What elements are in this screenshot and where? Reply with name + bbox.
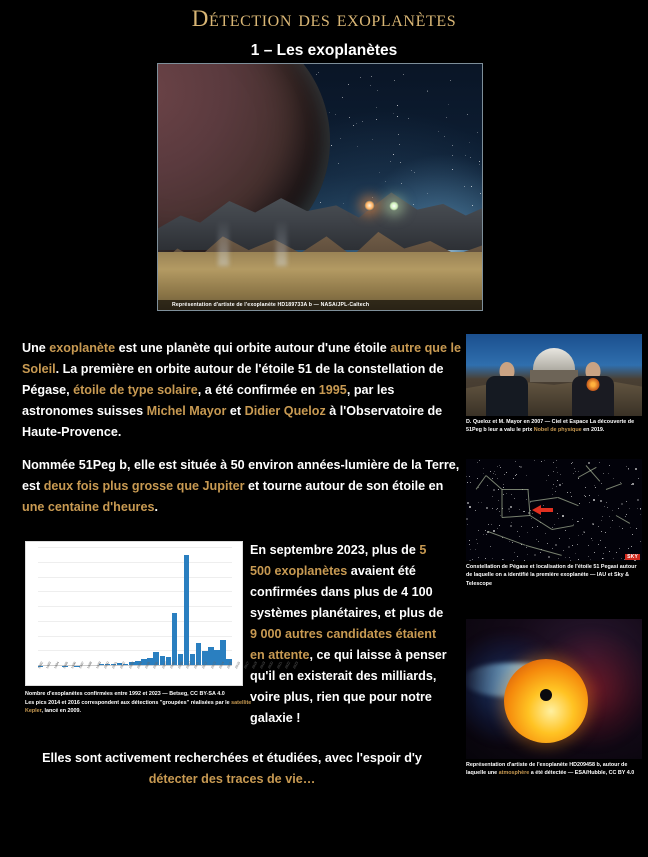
star-dot	[553, 462, 554, 463]
star-dot	[464, 186, 465, 187]
text-run: Une	[22, 341, 49, 355]
star-dot	[601, 483, 602, 484]
star-dot	[622, 528, 623, 529]
star-dot	[540, 552, 541, 553]
star-dot	[342, 97, 343, 98]
star-dot	[582, 534, 583, 535]
star-dot	[588, 462, 590, 464]
star-dot	[610, 527, 611, 528]
star-dot	[624, 559, 625, 560]
star-dot	[483, 534, 484, 535]
star-dot	[603, 553, 604, 554]
star-dot	[575, 553, 576, 554]
star-dot	[613, 478, 614, 479]
star-dot	[452, 145, 453, 146]
star-dot	[609, 465, 610, 466]
star-dot	[486, 507, 488, 509]
star-dot	[559, 538, 560, 539]
constellation-line	[558, 497, 578, 506]
star-dot	[555, 544, 557, 546]
star-dot	[519, 509, 520, 510]
star-dot	[538, 541, 539, 542]
star-dot	[444, 136, 445, 137]
star-dot	[544, 460, 545, 461]
star-dot	[585, 496, 586, 497]
caption-post: en 2019.	[582, 427, 605, 433]
page-subtitle: 1 – Les exoplanètes	[0, 42, 648, 60]
star-dot	[637, 499, 639, 501]
constellation-line	[616, 515, 630, 524]
exoplanet-discoveries-bar-chart: 1992199319941995199619971998199920002001…	[25, 541, 243, 686]
star-dot	[575, 471, 576, 472]
star-dot	[534, 460, 535, 461]
text-highlight: 1995	[319, 383, 347, 397]
star-dot	[531, 518, 532, 519]
star-dot	[588, 545, 589, 546]
star-dot	[478, 557, 479, 558]
star-dot	[362, 121, 363, 122]
star-dot	[628, 548, 629, 549]
star-dot	[469, 476, 470, 477]
star-dot	[467, 502, 469, 504]
hero-caption: Représentation d'artiste de l'exoplanète…	[158, 300, 482, 310]
star-dot	[479, 161, 480, 162]
star-dot	[487, 485, 488, 486]
star-dot	[578, 559, 579, 560]
star-dot	[595, 487, 596, 488]
star-dot	[600, 540, 601, 541]
chart-bar	[184, 555, 189, 666]
text-run: .	[154, 500, 158, 514]
star-dot	[356, 123, 357, 124]
star-dot	[470, 157, 471, 158]
star-dot	[632, 534, 633, 535]
star-dot	[626, 501, 627, 502]
star-dot	[562, 515, 564, 517]
star-dot	[497, 528, 498, 529]
star-dot	[548, 475, 549, 476]
star-dot	[552, 488, 553, 489]
star-dot	[477, 478, 478, 479]
star-dot	[582, 518, 583, 519]
star-dot	[452, 155, 453, 156]
star-dot	[413, 204, 414, 205]
star-dot	[318, 72, 319, 73]
star-dot	[471, 186, 472, 187]
star-dot	[562, 483, 563, 484]
star-dot	[569, 538, 570, 539]
star-dot	[479, 460, 480, 461]
star-dot	[475, 510, 476, 511]
star-dot	[511, 494, 512, 495]
star-dot	[589, 502, 590, 503]
star-dot	[399, 144, 400, 145]
star-dot	[604, 506, 605, 507]
star-dot	[506, 493, 507, 494]
star-dot	[526, 475, 527, 476]
star-dot	[483, 468, 484, 469]
star-dot	[371, 76, 372, 77]
star-dot	[476, 539, 477, 540]
star-dot	[496, 509, 497, 510]
star-dot	[397, 105, 398, 106]
constellation-line	[488, 531, 526, 546]
star-dot	[514, 552, 515, 553]
star-dot	[540, 517, 541, 518]
star-dot	[376, 119, 377, 120]
star-dot	[500, 467, 501, 468]
star-dot	[534, 554, 536, 556]
star-dot	[477, 543, 478, 544]
star-dot	[485, 558, 486, 559]
star-dot	[510, 525, 512, 527]
star-dot	[545, 533, 546, 534]
star-dot	[573, 473, 574, 474]
steam-plume-icon	[276, 220, 287, 266]
chart-caption-line2-post: , lancé en 2009.	[41, 708, 81, 714]
star-dot	[556, 467, 557, 468]
star-dot	[475, 549, 476, 550]
star-dot	[612, 510, 613, 511]
star-dot	[376, 107, 377, 108]
star-dot	[553, 471, 554, 472]
star-dot	[452, 169, 453, 170]
star-dot	[565, 557, 566, 558]
star-dot	[385, 181, 386, 182]
star-dot	[492, 558, 493, 559]
star-dot	[353, 125, 354, 126]
star-dot	[467, 524, 468, 525]
star-dot	[514, 498, 515, 499]
text-run: En septembre 2023, plus de	[250, 543, 419, 557]
star-dot	[524, 511, 525, 512]
text-highlight: Didier Queloz	[245, 404, 326, 418]
star-dot	[605, 547, 606, 548]
star-dot	[629, 508, 630, 509]
star-dot	[569, 557, 570, 558]
star-dot	[570, 492, 571, 493]
constellation-line	[502, 489, 528, 490]
person-body	[486, 376, 528, 416]
star-green-icon	[389, 201, 399, 211]
star-dot	[557, 513, 558, 514]
star-dot	[592, 540, 593, 541]
star-dot	[637, 508, 638, 509]
star-dot	[477, 132, 478, 133]
caption-pre: Constellation de Pégase et localisation …	[466, 564, 637, 587]
star-dot	[349, 117, 350, 118]
star-dot	[488, 524, 489, 525]
star-dot	[601, 520, 602, 521]
star-dot	[527, 532, 528, 533]
figure-caption: Constellation de Pégase et localisation …	[466, 563, 642, 588]
star-dot	[557, 472, 558, 473]
text-run: et tourne autour de son étoile en	[245, 479, 444, 493]
star-dot	[552, 548, 553, 549]
star-dot	[513, 560, 514, 561]
chart-caption: Nombre d'exoplanètes confirmées entre 19…	[25, 690, 255, 716]
star-dot	[599, 462, 600, 463]
star-dot	[499, 511, 500, 512]
star-dot	[616, 552, 617, 553]
star-dot	[372, 197, 373, 198]
star-dot	[636, 528, 637, 529]
paragraph-definition: Une exoplanète est une planète qui orbit…	[22, 338, 462, 443]
constellation-line	[502, 515, 530, 518]
star-dot	[512, 542, 513, 543]
star-dot	[557, 480, 558, 481]
star-dot	[481, 502, 482, 503]
star-dot	[517, 531, 518, 532]
constellation-line	[502, 490, 503, 518]
star-dot	[370, 85, 371, 86]
star-dot	[590, 559, 591, 560]
star-dot	[572, 519, 573, 520]
star-dot	[401, 183, 402, 184]
star-dot	[438, 131, 439, 132]
star-dot	[598, 544, 599, 545]
star-dot	[621, 558, 622, 559]
slide-page: Détection des exoplanètes 1 – Les exopla…	[0, 0, 648, 857]
figure-caption: Représentation d'artiste de l'exoplanète…	[466, 761, 642, 778]
star-dot	[348, 84, 349, 85]
constellation-line	[606, 483, 622, 490]
chart-caption-line1: Nombre d'exoplanètes confirmées entre 19…	[25, 690, 255, 699]
star-dot	[478, 530, 479, 531]
star-dot	[593, 499, 595, 501]
star-dot	[619, 526, 620, 527]
star-dot	[521, 526, 522, 527]
star-dot	[360, 77, 361, 78]
star-dot	[559, 484, 561, 486]
star-dot	[469, 544, 470, 545]
artist-view-hd209458b	[466, 619, 642, 759]
star-dot	[510, 506, 512, 508]
star-dot	[498, 500, 499, 501]
star-dot	[578, 521, 579, 522]
constellation-line	[530, 497, 558, 502]
star-dot	[625, 516, 626, 517]
star-dot	[490, 471, 491, 472]
star-dot	[638, 478, 639, 479]
text-run: , a été confirmée en	[198, 383, 319, 397]
star-dot	[469, 142, 470, 143]
star-dot	[578, 471, 579, 472]
transiting-planet-icon	[540, 689, 552, 701]
star-dot	[515, 461, 516, 462]
star-dot	[467, 114, 468, 115]
text-run: Elles sont activement recherchées et étu…	[42, 751, 422, 765]
star-dot	[628, 469, 629, 470]
star-dot	[630, 527, 631, 528]
shirt-sun-emblem-icon	[587, 378, 600, 391]
star-dot	[571, 463, 572, 464]
text-run: et	[226, 404, 244, 418]
star-dot	[499, 525, 500, 526]
star-dot	[520, 466, 522, 468]
star-dot	[640, 514, 641, 515]
star-dot	[492, 508, 493, 509]
star-dot	[340, 138, 341, 139]
paragraph-51pegb: Nommée 51Peg b, elle est située à 50 env…	[22, 455, 462, 518]
star-dot	[626, 466, 627, 467]
star-dot	[343, 203, 344, 204]
star-dot	[497, 508, 498, 509]
star-dot	[320, 202, 321, 203]
star-dot	[584, 532, 585, 533]
star-dot	[316, 74, 317, 75]
caption-highlight: atmosphère	[499, 770, 530, 776]
star-dot	[394, 80, 395, 81]
star-dot	[594, 485, 595, 486]
star-dot	[472, 559, 473, 560]
star-dot	[478, 502, 479, 503]
star-dot	[574, 468, 575, 469]
page-title: Détection des exoplanètes	[0, 6, 648, 32]
chart-caption-line2-pre: Les pics 2014 et 2016 correspondent aux …	[25, 700, 231, 706]
star-dot	[513, 478, 514, 479]
star-dot	[619, 548, 620, 549]
star-dot	[491, 524, 492, 525]
star-dot	[600, 500, 602, 502]
star-dot	[640, 541, 641, 542]
star-dot	[511, 522, 512, 523]
star-dot	[621, 503, 623, 505]
star-dot	[357, 146, 358, 147]
star-dot	[493, 530, 495, 532]
paragraph-counts-2023: En septembre 2023, plus de 5 500 exoplan…	[250, 540, 450, 729]
star-dot	[605, 532, 606, 533]
star-dot	[414, 172, 415, 173]
star-dot	[524, 560, 525, 561]
star-dot	[486, 534, 487, 535]
star-orange-icon	[364, 200, 375, 211]
figure-hd209458b: Représentation d'artiste de l'exoplanète…	[466, 619, 642, 778]
star-dot	[626, 514, 627, 515]
star-dot	[560, 474, 561, 475]
star-dot	[602, 516, 603, 517]
red-arrow-icon	[532, 505, 541, 515]
hero-image-exoplanet-landscape: Représentation d'artiste de l'exoplanète…	[157, 63, 483, 311]
star-dot	[555, 491, 556, 492]
star-dot	[536, 539, 537, 540]
star-dot	[469, 540, 470, 541]
star-dot	[571, 496, 572, 497]
star-dot	[377, 90, 378, 91]
star-dot	[570, 560, 571, 561]
star-dot	[446, 117, 447, 118]
star-dot	[427, 91, 428, 92]
star-dot	[613, 558, 614, 559]
constellation-line	[530, 515, 553, 530]
star-dot	[548, 556, 550, 558]
star-dot	[393, 154, 394, 155]
star-dot	[427, 193, 428, 194]
paragraph-closing: Elles sont activement recherchées et étu…	[22, 748, 442, 790]
star-dot	[329, 112, 330, 113]
star-dot	[567, 492, 568, 493]
star-dot	[609, 551, 610, 552]
star-dot	[331, 145, 332, 146]
star-dot	[606, 502, 607, 503]
star-dot	[469, 506, 471, 508]
star-dot	[397, 116, 398, 117]
chart-caption-line2: Les pics 2014 et 2016 correspondent aux …	[25, 699, 255, 716]
text-run: est une planète qui orbite autour d'une …	[115, 341, 390, 355]
steam-plume-icon	[218, 220, 229, 266]
text-highlight: étoile de type solaire	[73, 383, 198, 397]
star-dot	[497, 466, 498, 467]
star-dot	[554, 524, 555, 525]
star-dot	[493, 489, 495, 491]
star-dot	[466, 518, 468, 520]
star-dot	[552, 494, 553, 495]
text-highlight: Michel Mayor	[147, 404, 227, 418]
star-dot	[578, 535, 579, 536]
star-dot	[556, 460, 557, 461]
star-dot	[408, 118, 409, 119]
star-dot	[552, 527, 553, 528]
star-dot	[517, 556, 518, 557]
host-star-icon	[504, 659, 588, 743]
star-dot	[335, 114, 336, 115]
star-dot	[565, 530, 566, 531]
star-dot	[532, 527, 533, 528]
star-dot	[465, 155, 466, 156]
star-dot	[506, 472, 507, 473]
chart-bar	[172, 613, 177, 666]
figure-queloz-mayor: D. Queloz et M. Mayor en 2007 — Ciel et …	[466, 334, 642, 435]
star-dot	[499, 465, 500, 466]
star-dot	[508, 508, 510, 510]
star-dot	[635, 468, 637, 470]
star-dot	[631, 546, 632, 547]
star-dot	[547, 543, 548, 544]
star-dot	[492, 478, 493, 479]
star-dot	[448, 104, 449, 105]
star-dot	[603, 558, 604, 559]
star-dot	[403, 74, 404, 75]
star-dot	[640, 509, 641, 510]
person-queloz	[484, 362, 530, 416]
star-dot	[490, 546, 491, 547]
star-dot	[578, 478, 579, 479]
star-dot	[612, 520, 613, 521]
star-dot	[585, 487, 586, 488]
figure-pegasus-chart: SKY Constellation de Pégase et localisat…	[466, 459, 642, 588]
star-dot	[400, 162, 401, 163]
star-dot	[504, 474, 505, 475]
star-dot	[495, 474, 496, 475]
star-dot	[568, 546, 570, 548]
text-highlight: deux fois plus grosse que Jupiter	[44, 479, 245, 493]
star-dot	[498, 489, 499, 490]
sky-telescope-badge: SKY	[625, 554, 640, 560]
star-dot	[558, 558, 559, 559]
star-dot	[450, 80, 451, 81]
star-dot	[466, 476, 467, 477]
star-dot	[338, 163, 339, 164]
star-dot	[483, 473, 484, 474]
star-dot	[477, 462, 478, 463]
star-dot	[470, 482, 471, 483]
text-highlight: une centaine d'heures	[22, 500, 154, 514]
star-dot	[480, 193, 481, 194]
star-dot	[526, 499, 527, 500]
text-highlight: exoplanète	[49, 341, 115, 355]
star-dot	[492, 496, 493, 497]
star-dot	[393, 113, 394, 114]
